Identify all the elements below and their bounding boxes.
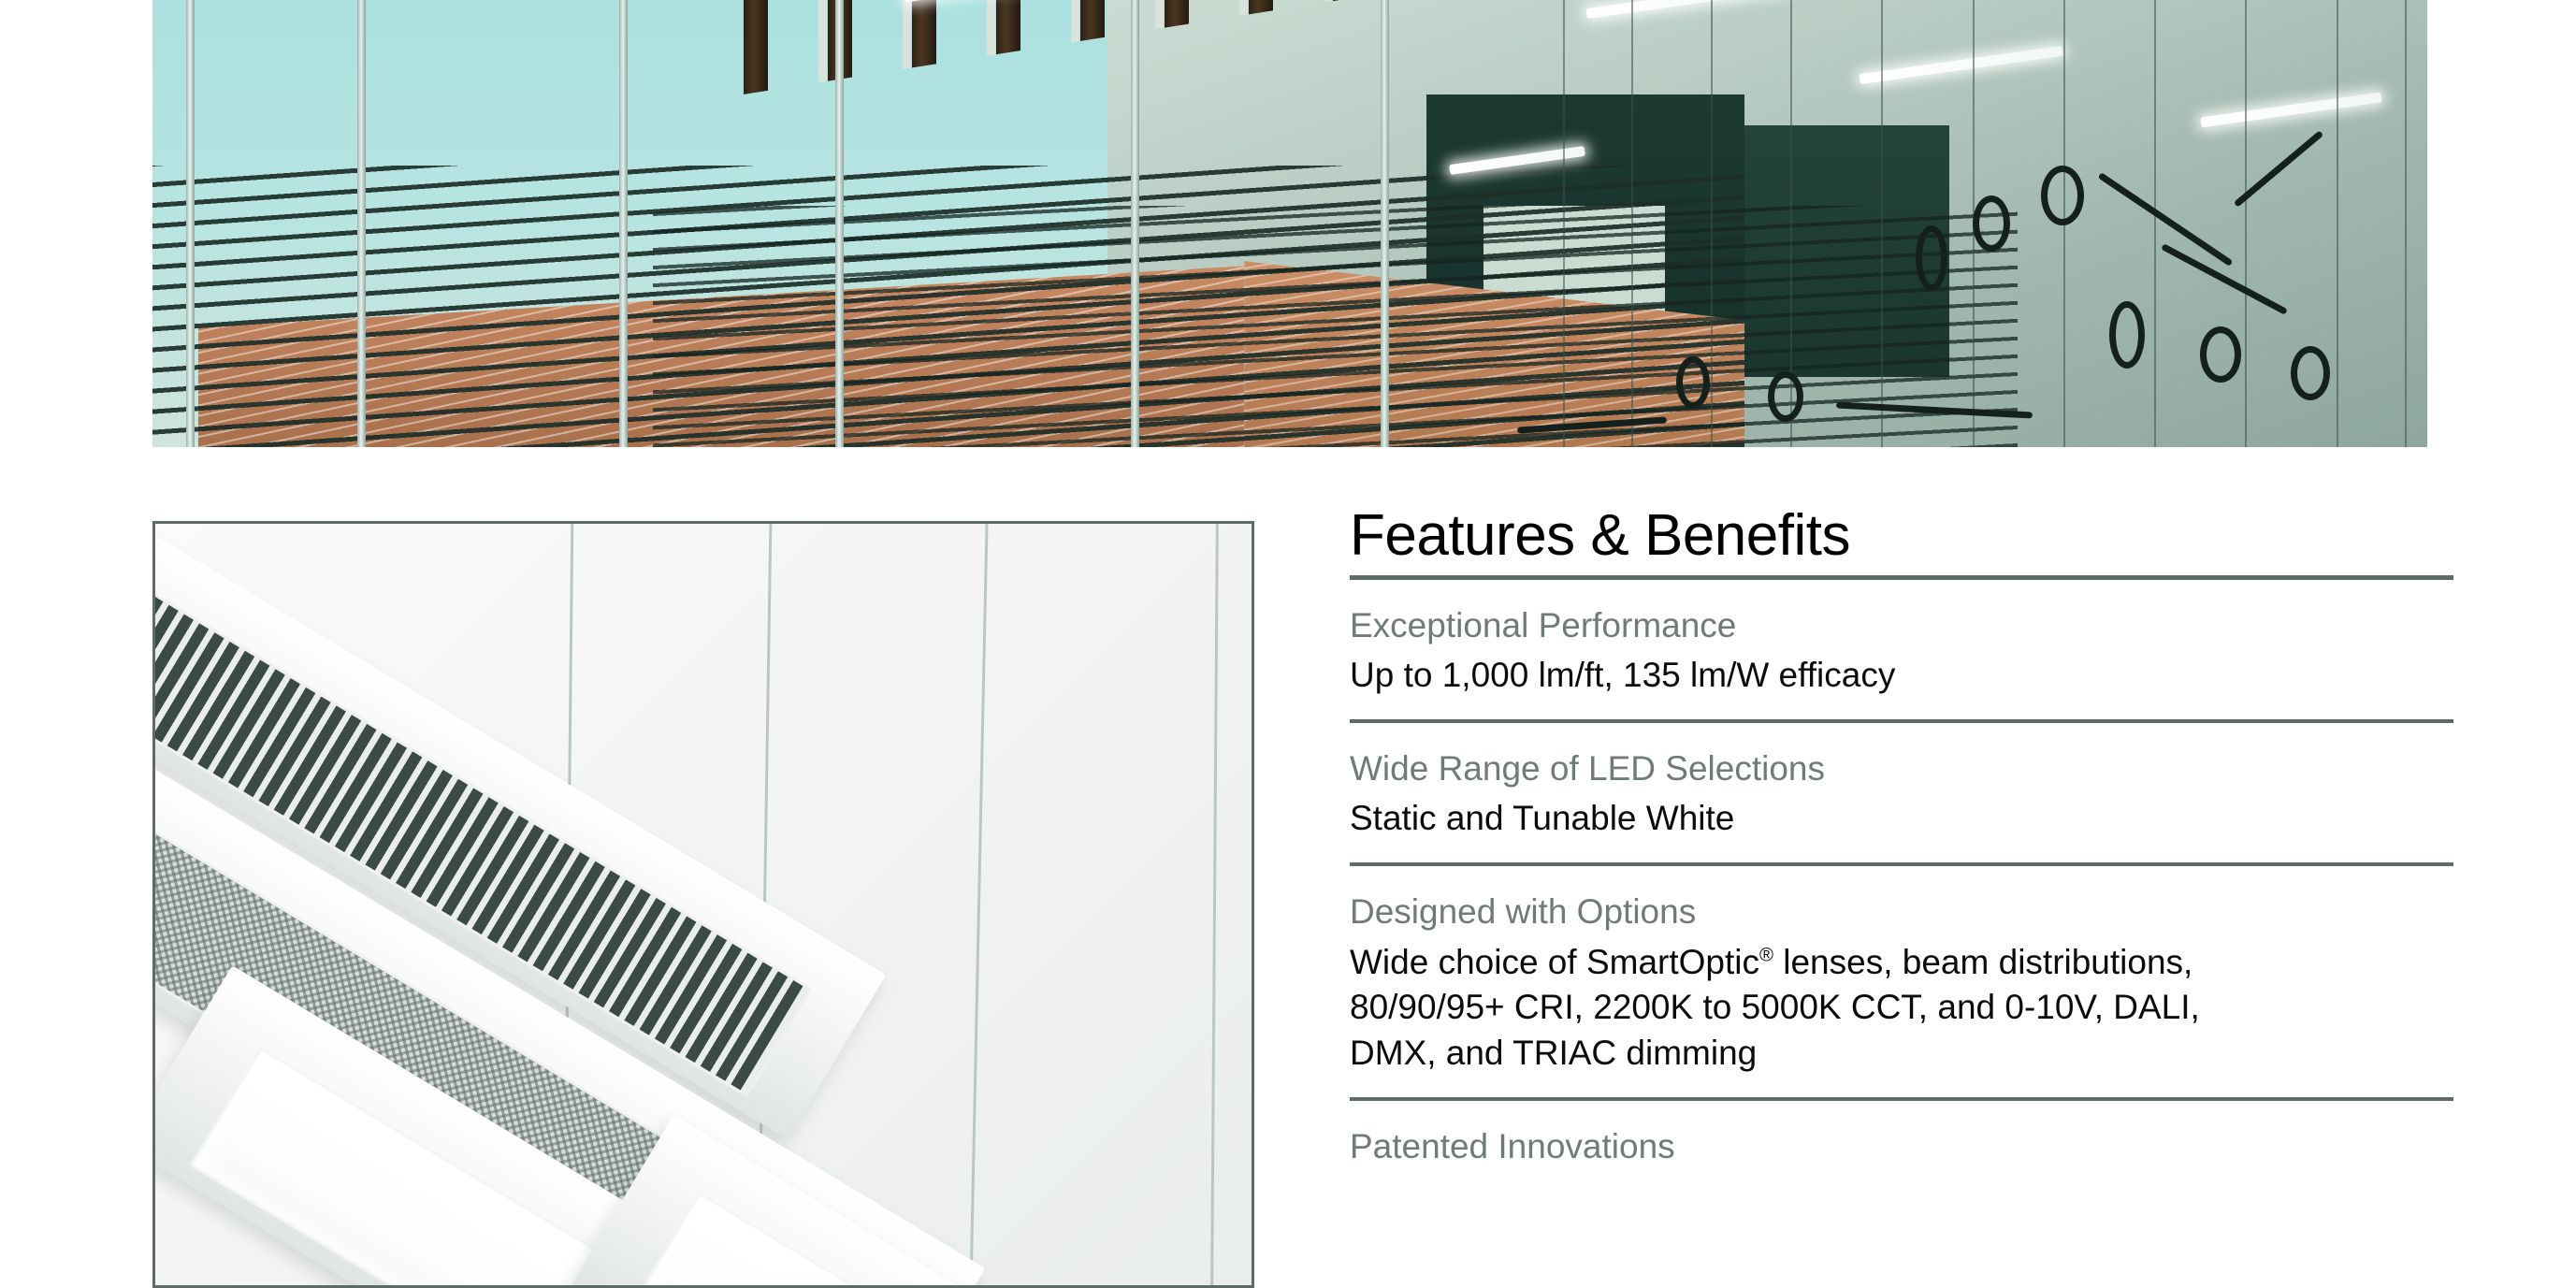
glass-mullion [357,0,366,447]
feature-heading: Exceptional Performance [1350,604,2453,653]
silhouette-figure [1768,371,1803,422]
feature-body-line1-pre: Wide choice of SmartOptic [1350,943,1759,981]
glass-mullion [1131,0,1139,447]
feature-block-patented-innovations: Patented Innovations [1350,1101,2453,1194]
feature-body: Up to 1,000 lm/ft, 135 lm/W efficacy [1350,653,2453,699]
glass-mullion [186,0,195,447]
glass-mullion [1381,0,1389,447]
feature-heading: Wide Range of LED Selections [1350,747,2453,796]
feature-block-led-selections: Wide Range of LED Selections Static and … [1350,723,2453,862]
features-benefits-panel: Features & Benefits Exceptional Performa… [1350,505,2453,1194]
silhouette-figure [1916,225,1947,291]
page-title: Features & Benefits [1350,505,2453,575]
glass-mullion [619,0,628,447]
silhouette-figure [2109,301,2145,369]
window-louver-slats-secondary [653,206,2018,447]
datasheet-page: Features & Benefits Exceptional Performa… [0,0,2576,1288]
feature-body-line1-post: lenses, beam distributions, [1773,943,2192,981]
feature-heading: Patented Innovations [1350,1125,2453,1174]
hero-interior-photo [152,0,2427,447]
silhouette-figure [2200,326,2241,383]
feature-body-line2: 80/90/95+ CRI, 2200K to 5000K CCT, and 0… [1350,988,2200,1026]
feature-body: Static and Tunable White [1350,796,2453,842]
feature-heading: Designed with Options [1350,890,2453,939]
feature-body: Wide choice of SmartOptic® lenses, beam … [1350,940,2453,1077]
silhouette-figure [1973,195,2010,252]
registered-trademark-icon: ® [1759,945,1773,965]
silhouette-figure [2041,166,2084,225]
product-luminaire-photo [152,521,1254,1288]
feature-block-designed-with-options: Designed with Options Wide choice of Sma… [1350,866,2453,1097]
hero-scene [152,0,2427,447]
feature-block-exceptional-performance: Exceptional Performance Up to 1,000 lm/f… [1350,580,2453,719]
glass-mullion [835,0,844,447]
feature-body-line3: DMX, and TRIAC dimming [1350,1034,1757,1072]
